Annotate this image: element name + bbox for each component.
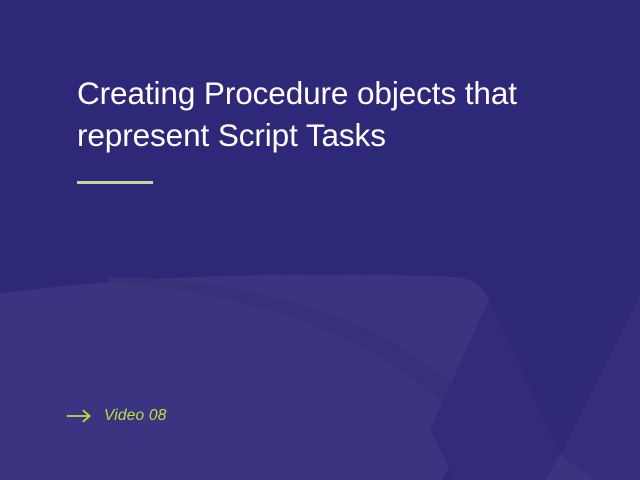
title-block: Creating Procedure objects that represen…	[77, 72, 587, 156]
video-number-label: Video 08	[104, 407, 167, 425]
footer: Video 08	[67, 407, 167, 425]
title-slide: Creating Procedure objects that represen…	[0, 0, 640, 480]
v-inner-notch	[430, 299, 560, 480]
accent-rule	[77, 181, 153, 184]
v-shape-body	[0, 274, 640, 480]
arrow-right-icon	[67, 409, 93, 423]
v-right-stroke	[560, 296, 640, 480]
page-title: Creating Procedure objects that represen…	[77, 72, 587, 156]
